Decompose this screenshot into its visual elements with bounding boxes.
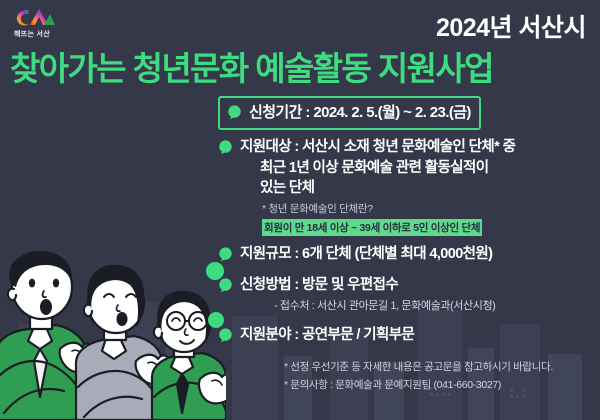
support-target-note-highlight: 회원이 만 18세 이상 ~ 39세 이하로 5인 이상인 단체 xyxy=(262,219,482,236)
support-target-line-2: 최근 1년 이상 문화예술 관련 활동실적이 xyxy=(218,158,596,179)
list-item-application-period: 신청기간 : 2024. 2. 5.(월) ~ 2. 23.(금) xyxy=(218,96,481,130)
support-target-note-question: * 청년 문화예술인 단체란? xyxy=(262,202,596,217)
support-target-label: 지원대상 : 서산시 소재 청년 문화예술인 단체* 중 xyxy=(240,139,515,155)
year-line: 2024년 서산시 xyxy=(436,8,586,44)
three-singing-people-illustration xyxy=(0,245,226,420)
application-period-label: 신청기간 : 2024. 2. 5.(월) ~ 2. 23.(금) xyxy=(249,104,471,121)
logo-text: 해뜨는 서산 xyxy=(14,29,94,39)
logo: 해뜨는 서산 xyxy=(14,6,94,39)
application-method-subline: - 접수처 : 서산시 관아문길 1, 문화예술과(서산시청) xyxy=(218,297,596,313)
footer-note-2: * 문의사항 : 문화예술과 문예지원팀 (041-660-3027) xyxy=(284,376,596,394)
list-item-application-method: 신청방법 : 방문 및 우편접수 - 접수처 : 서산시 관아문길 1, 문화예… xyxy=(218,275,596,314)
footer-note-1: * 선정 우선기준 등 자세한 내용은 공고문을 참고하시기 바랍니다. xyxy=(284,358,596,376)
application-method-label: 신청방법 : 방문 및 우편접수 xyxy=(240,277,398,293)
support-target-note: * 청년 문화예술인 단체란? 회원이 만 18세 이상 ~ 39세 이하로 5… xyxy=(218,202,596,236)
info-list: 신청기간 : 2024. 2. 5.(월) ~ 2. 23.(금) 지원대상 :… xyxy=(218,96,596,349)
speech-bubble-icon xyxy=(218,140,233,155)
support-field-label: 지원분야 : 공연부문 / 기획부문 xyxy=(240,327,414,343)
support-scale-label: 지원규모 : 6개 단체 (단체별 최대 4,000천원) xyxy=(240,246,492,262)
decorative-bubble xyxy=(206,262,224,280)
decorative-bubble xyxy=(208,312,224,328)
poster-root: 해뜨는 서산 2024년 서산시 찾아가는 청년문화 예술활동 지원사업 신청기… xyxy=(0,0,600,420)
person-left xyxy=(0,251,86,420)
person-center xyxy=(76,265,162,420)
speech-bubble-icon xyxy=(227,105,242,120)
list-item-support-target: 지원대상 : 서산시 소재 청년 문화예술인 단체* 중 최근 1년 이상 문화… xyxy=(218,137,596,236)
footer-notes: * 선정 우선기준 등 자세한 내용은 공고문을 참고하시기 바랍니다. * 문… xyxy=(284,358,596,395)
list-item-support-field: 지원분야 : 공연부문 / 기획부문 xyxy=(218,325,596,346)
support-target-line-3: 있는 단체 xyxy=(218,178,596,199)
seosan-logo-icon xyxy=(14,6,56,28)
page-title: 찾아가는 청년문화 예술활동 지원사업 xyxy=(10,42,595,90)
list-item-support-scale: 지원규모 : 6개 단체 (단체별 최대 4,000천원) xyxy=(218,244,596,265)
